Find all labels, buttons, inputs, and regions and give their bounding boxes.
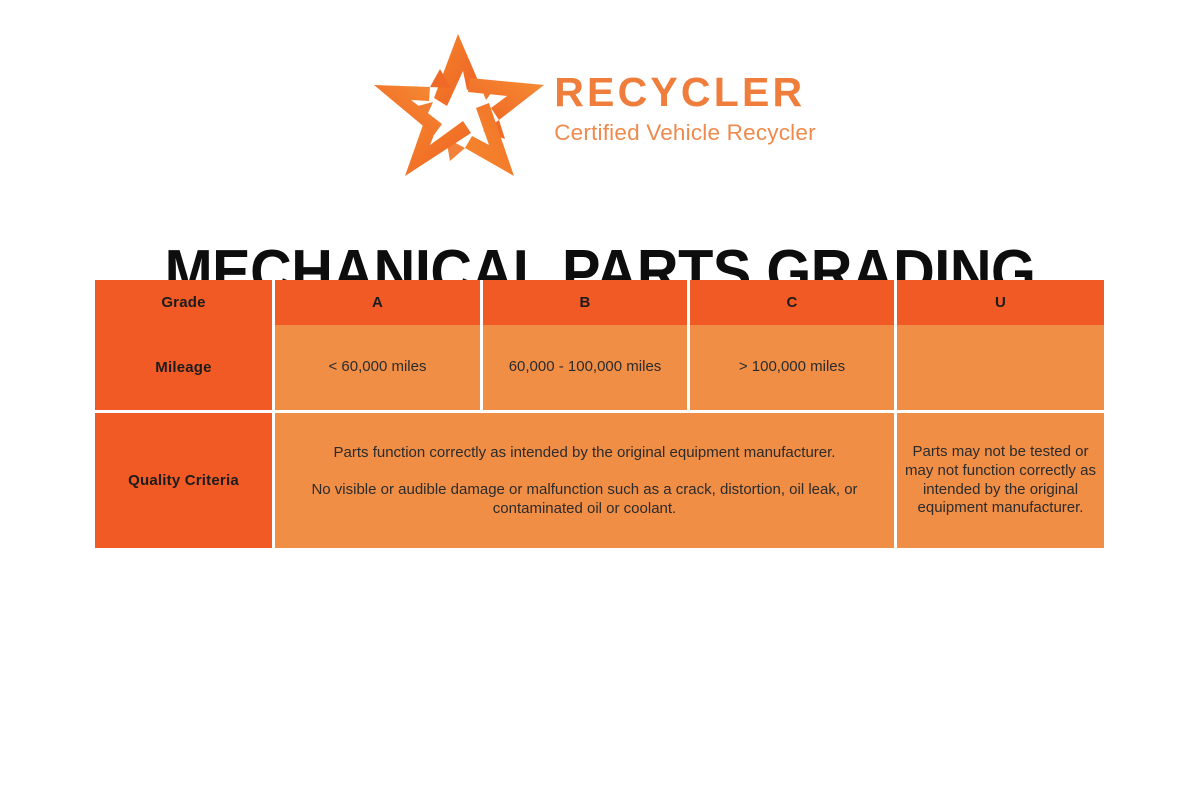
logo-wordmark: RECYCLER <box>554 72 805 114</box>
cell-mileage-a: < 60,000 miles <box>275 325 483 413</box>
table-row-quality-criteria: Quality Criteria Parts function correctl… <box>95 413 1104 548</box>
header-cell-grade-c: C <box>690 280 897 325</box>
mechanical-parts-grading-table: Grade A B C U Mileage < 60,000 miles 60,… <box>95 280 1104 548</box>
quality-criteria-paragraph-1: Parts function correctly as intended by … <box>275 443 894 462</box>
logo-text-group: RECYCLER Certified Vehicle Recycler <box>554 62 816 146</box>
header-cell-grade: Grade <box>95 280 275 325</box>
cell-quality-criteria-abc: Parts function correctly as intended by … <box>275 413 897 548</box>
row-header-mileage: Mileage <box>95 325 275 413</box>
cell-mileage-u <box>897 325 1104 413</box>
cell-mileage-b: 60,000 - 100,000 miles <box>483 325 690 413</box>
table-header-row: Grade A B C U <box>95 280 1104 325</box>
brand-logo: RECYCLER Certified Vehicle Recycler <box>0 28 1200 180</box>
recycling-star-icon <box>368 28 548 180</box>
header-cell-grade-a: A <box>275 280 483 325</box>
cell-quality-criteria-u: Parts may not be tested or may not funct… <box>897 413 1104 548</box>
row-header-quality-criteria: Quality Criteria <box>95 413 275 548</box>
quality-criteria-paragraph-2: No visible or audible damage or malfunct… <box>275 480 894 518</box>
quality-criteria-u-text: Parts may not be tested or may not funct… <box>897 443 1104 519</box>
logo-tagline: Certified Vehicle Recycler <box>554 121 816 146</box>
header-cell-grade-b: B <box>483 280 690 325</box>
table-row-mileage: Mileage < 60,000 miles 60,000 - 100,000 … <box>95 325 1104 413</box>
logo-inner: RECYCLER Certified Vehicle Recycler <box>368 28 816 180</box>
header-cell-grade-u: U <box>897 280 1104 325</box>
cell-mileage-c: > 100,000 miles <box>690 325 897 413</box>
